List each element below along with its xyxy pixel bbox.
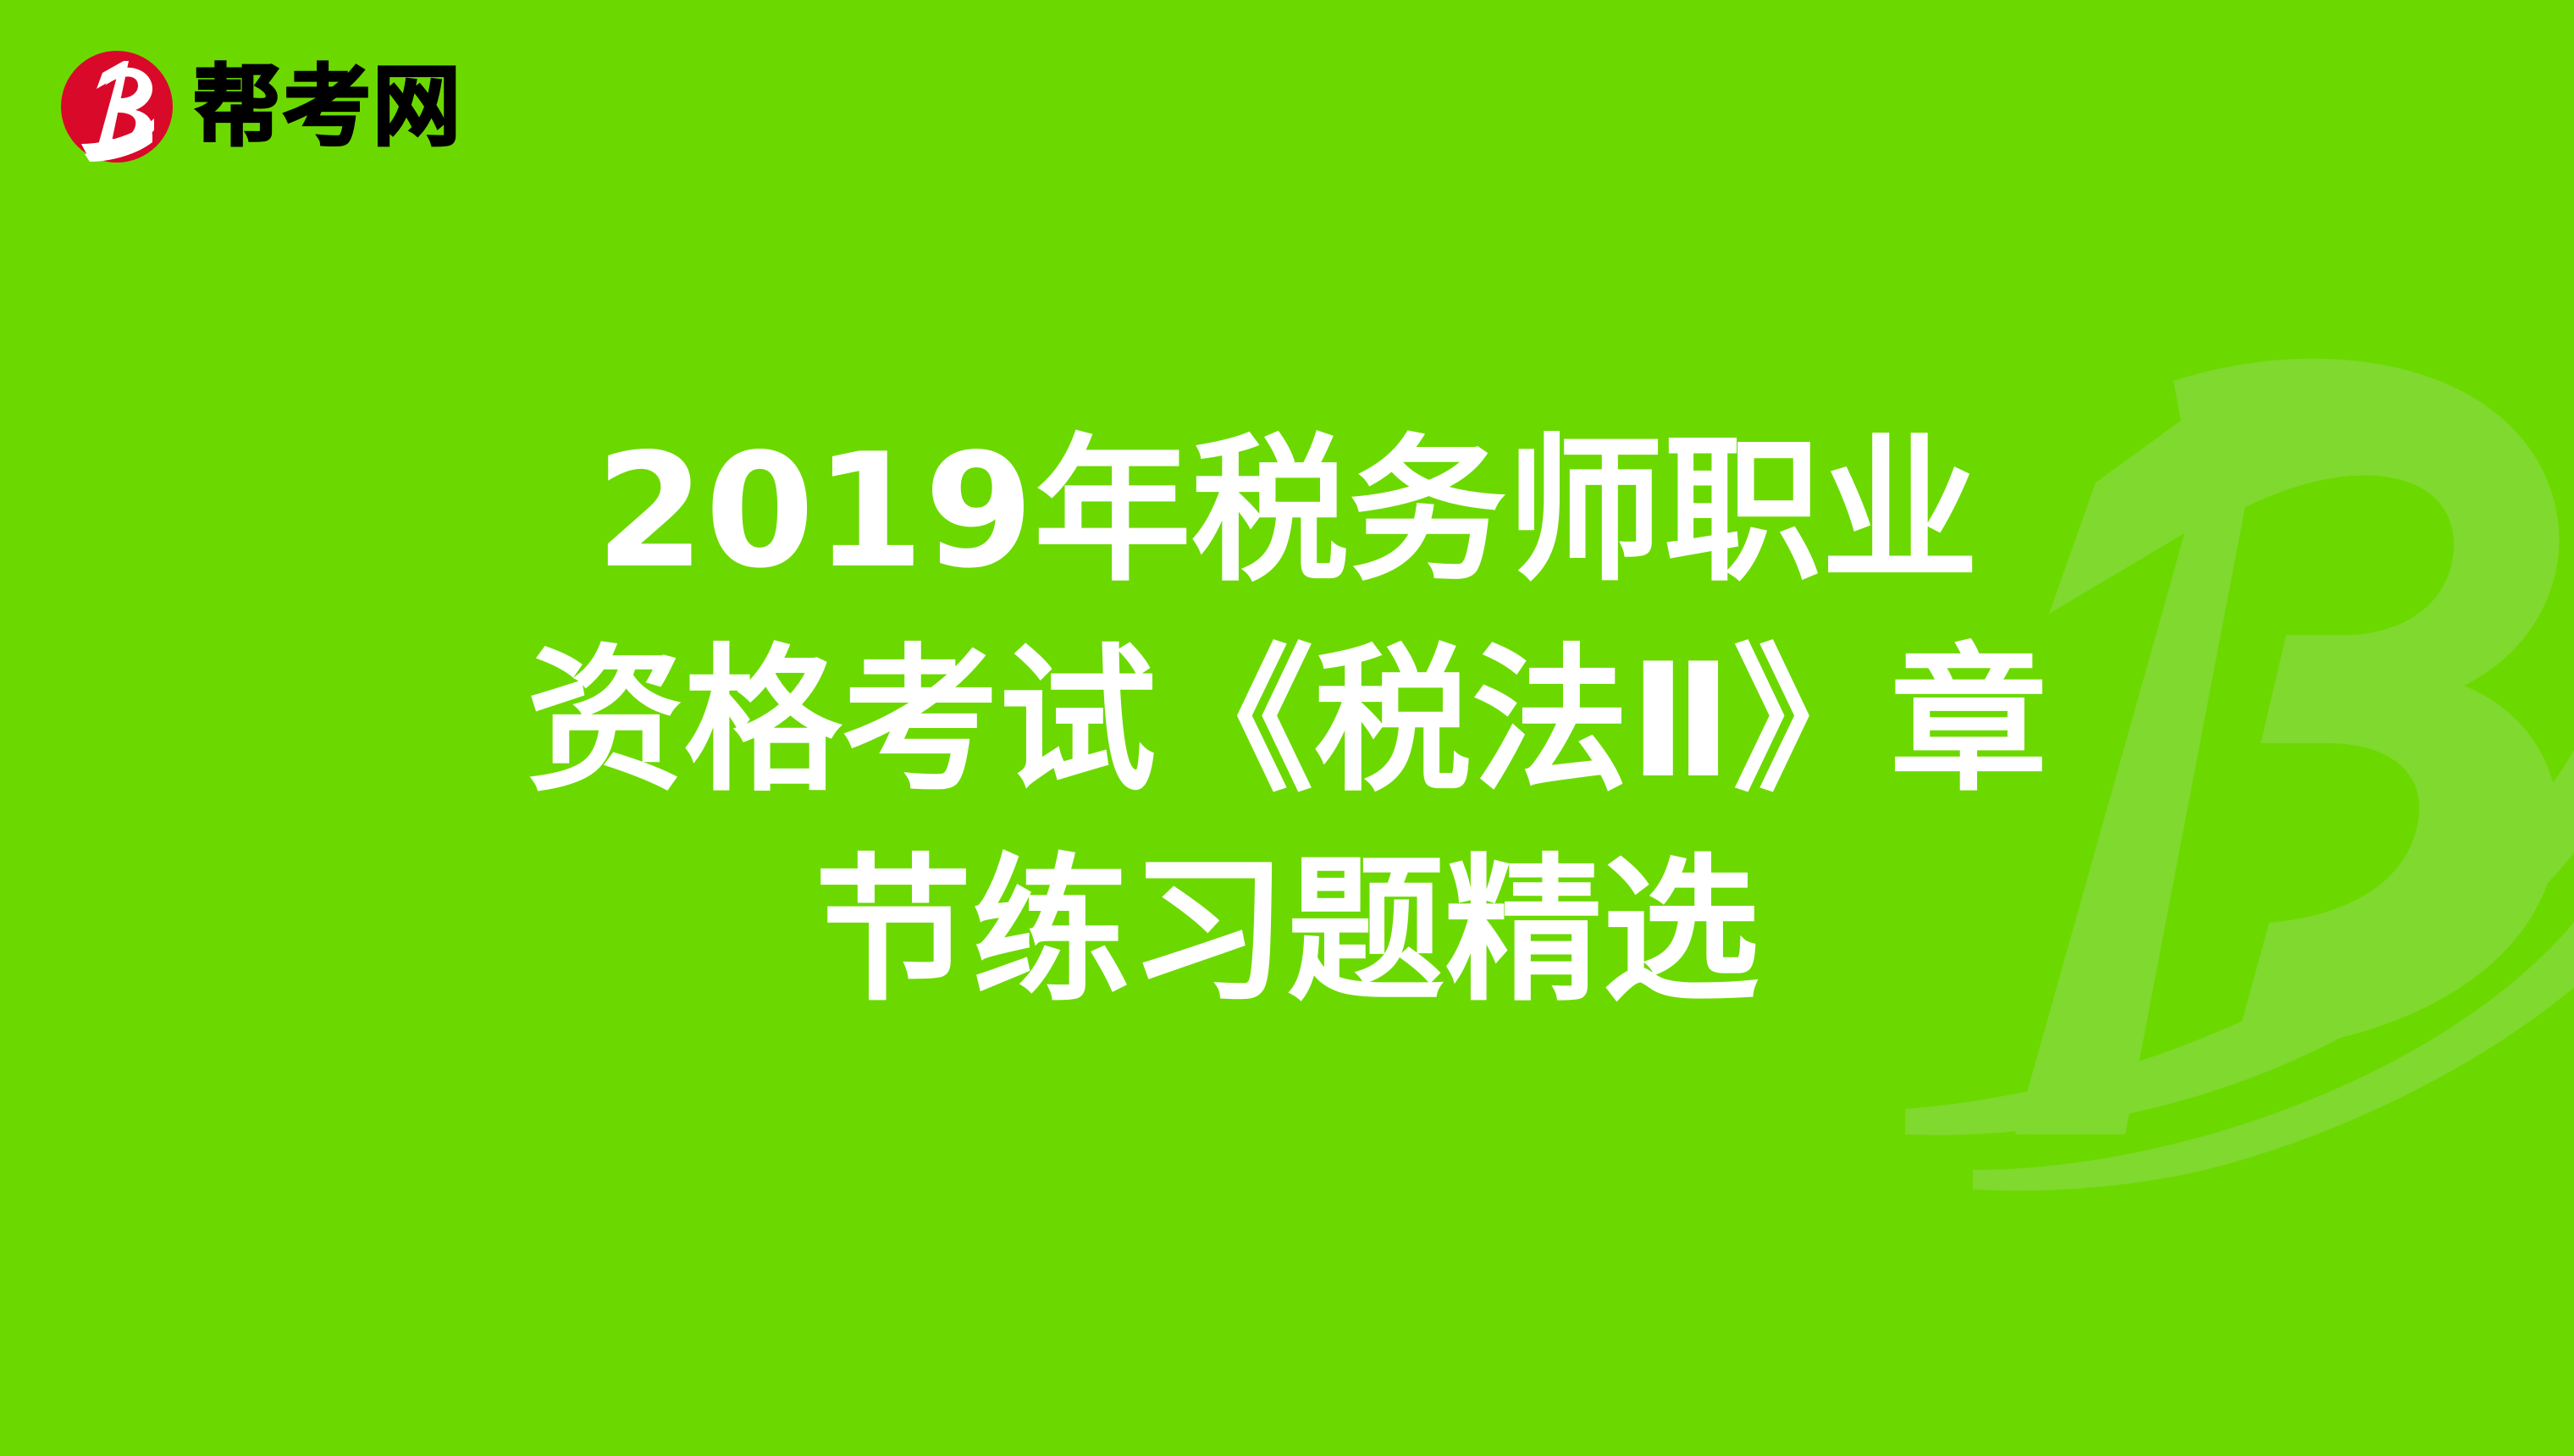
page-title-line-3: 节练习题精选 (34, 826, 2540, 1036)
brand-mark-b-icon (59, 49, 174, 164)
poster-canvas: 帮考网 2019年税务师职业 资格考试《税法Ⅱ》章 节练习题精选 (0, 0, 2574, 1456)
page-title-line-2: 资格考试《税法Ⅱ》章 (34, 616, 2540, 826)
page-title: 2019年税务师职业 资格考试《税法Ⅱ》章 节练习题精选 (0, 406, 2574, 1036)
brand-logo[interactable]: 帮考网 (59, 49, 462, 164)
brand-name-text: 帮考网 (193, 63, 462, 151)
page-title-line-1: 2019年税务师职业 (34, 406, 2540, 616)
